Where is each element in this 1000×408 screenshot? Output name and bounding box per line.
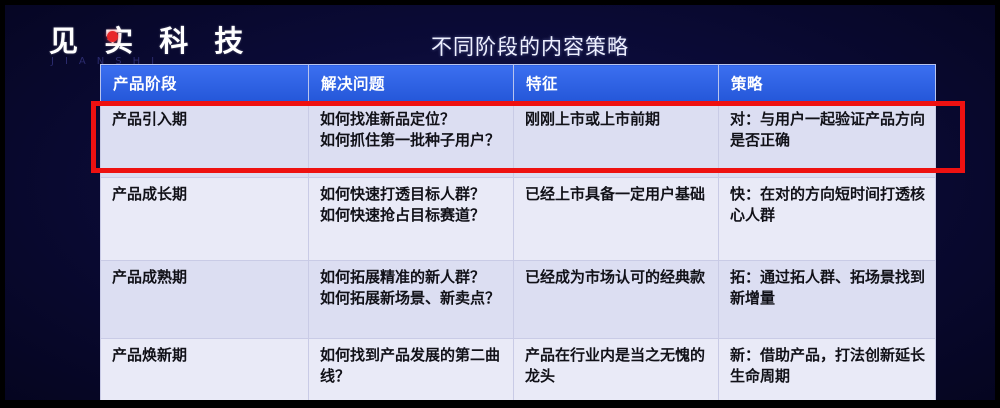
cell-text: 产品成长期 bbox=[112, 184, 300, 205]
table-row: 产品成长期 如何快速打透目标人群？ 如何快速抢占目标赛道？ 已经上市具备一定用户… bbox=[101, 178, 936, 261]
cell-text: 新：借助产品，打法创新延长生命周期 bbox=[730, 345, 927, 387]
column-header-stage: 产品阶段 bbox=[101, 65, 309, 103]
table-row: 产品焕新期 如何找到产品发展的第二曲线？ 产品在行业内是当之无愧的龙头 新：借助… bbox=[101, 339, 936, 401]
cell-text: 如何快速抢占目标赛道？ bbox=[320, 205, 505, 226]
cell-stage: 产品焕新期 bbox=[101, 339, 309, 401]
strategy-table: 产品阶段 解决问题 特征 策略 产品引入期 如何找准新品定位？ 如何抓住第一批种… bbox=[100, 64, 936, 400]
column-header-feature: 特征 bbox=[514, 65, 719, 103]
cell-stage: 产品成熟期 bbox=[101, 261, 309, 339]
cell-feature: 刚刚上市或上市前期 bbox=[514, 103, 719, 178]
cell-text: 产品焕新期 bbox=[112, 345, 300, 366]
table-row: 产品引入期 如何找准新品定位？ 如何抓住第一批种子用户？ 刚刚上市或上市前期 对… bbox=[101, 103, 936, 178]
cell-text: 如何找到产品发展的第二曲线？ bbox=[320, 345, 505, 387]
cell-text: 拓：通过拓人群、拓场景找到新增量 bbox=[730, 267, 927, 309]
cell-stage: 产品成长期 bbox=[101, 178, 309, 261]
cell-strategy: 对：与用户一起验证产品方向是否正确 bbox=[719, 103, 936, 178]
cell-feature: 产品在行业内是当之无愧的龙头 bbox=[514, 339, 719, 401]
cell-text: 如何拓展精准的新人群？ bbox=[320, 267, 505, 288]
cell-text: 已经成为市场认可的经典款 bbox=[525, 267, 710, 288]
cell-problem: 如何找到产品发展的第二曲线？ bbox=[309, 339, 514, 401]
cell-text: 产品在行业内是当之无愧的龙头 bbox=[525, 345, 710, 387]
strategy-table-container: 产品阶段 解决问题 特征 策略 产品引入期 如何找准新品定位？ 如何抓住第一批种… bbox=[100, 64, 935, 393]
cell-text: 已经上市具备一定用户基础 bbox=[525, 184, 710, 205]
cell-text: 如何找准新品定位？ bbox=[320, 109, 505, 130]
cell-text: 如何拓展新场景、新卖点？ bbox=[320, 288, 505, 309]
cell-strategy: 新：借助产品，打法创新延长生命周期 bbox=[719, 339, 936, 401]
cell-text: 产品引入期 bbox=[112, 109, 300, 130]
cell-text: 刚刚上市或上市前期 bbox=[525, 109, 710, 130]
cell-feature: 已经上市具备一定用户基础 bbox=[514, 178, 719, 261]
cell-strategy: 快：在对的方向短时间打透核心人群 bbox=[719, 178, 936, 261]
cell-text: 产品成熟期 bbox=[112, 267, 300, 288]
slide-canvas: 见 实 科 技 JIANSHI 不同阶段的内容策略 产品阶段 解决问题 特征 策… bbox=[5, 5, 995, 400]
cell-text: 快：在对的方向短时间打透核心人群 bbox=[730, 184, 927, 226]
cell-stage: 产品引入期 bbox=[101, 103, 309, 178]
cell-strategy: 拓：通过拓人群、拓场景找到新增量 bbox=[719, 261, 936, 339]
cell-problem: 如何拓展精准的新人群？ 如何拓展新场景、新卖点？ bbox=[309, 261, 514, 339]
cell-text: 如何抓住第一批种子用户？ bbox=[320, 130, 505, 151]
cell-feature: 已经成为市场认可的经典款 bbox=[514, 261, 719, 339]
table-row: 产品成熟期 如何拓展精准的新人群？ 如何拓展新场景、新卖点？ 已经成为市场认可的… bbox=[101, 261, 936, 339]
cell-text: 如何快速打透目标人群？ bbox=[320, 184, 505, 205]
cell-text: 对：与用户一起验证产品方向是否正确 bbox=[730, 109, 927, 151]
column-header-strategy: 策略 bbox=[719, 65, 936, 103]
cell-problem: 如何快速打透目标人群？ 如何快速抢占目标赛道？ bbox=[309, 178, 514, 261]
page-title: 不同阶段的内容策略 bbox=[5, 31, 995, 61]
cell-problem: 如何找准新品定位？ 如何抓住第一批种子用户？ bbox=[309, 103, 514, 178]
column-header-problem: 解决问题 bbox=[309, 65, 514, 103]
table-header-row: 产品阶段 解决问题 特征 策略 bbox=[101, 65, 936, 103]
